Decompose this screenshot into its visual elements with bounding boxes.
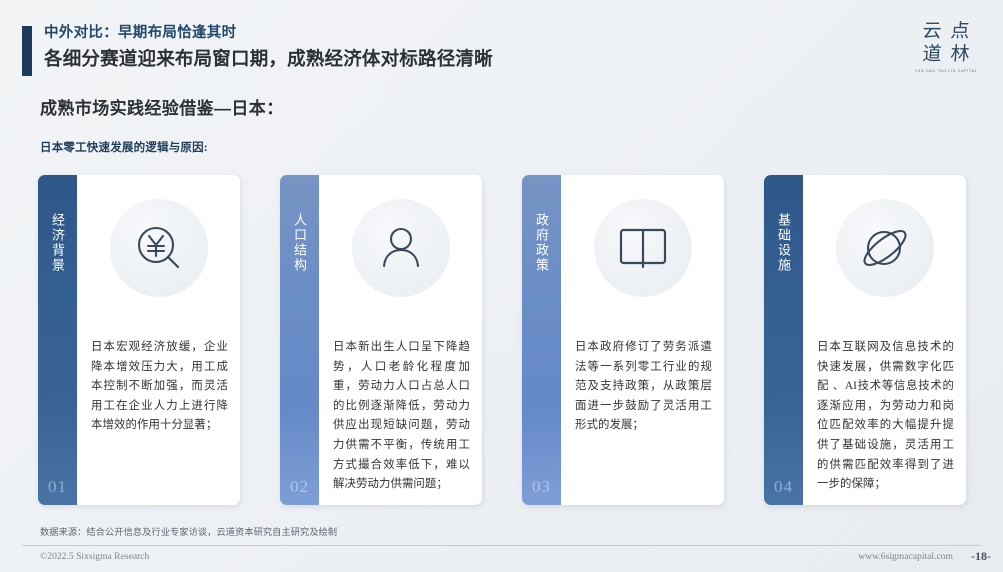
card-text: 日本新出生人口呈下降趋势，人口老龄化程度加重，劳动力人口占总人口的比例逐渐降低，… <box>333 338 470 495</box>
page-title: 各细分赛道迎来布局窗口期，成熟经济体对标路径清晰 <box>44 45 493 73</box>
card-tab: 经济背景 01 <box>38 175 77 505</box>
card-text: 日本互联网及信息技术的快速发展，供需数字化匹配 、AI技术等信息技术的逐渐应用，… <box>817 338 954 495</box>
card-body: 日本宏观经济放缓，企业降本增效压力大，用工成本控制不断加强，而灵活用工在企业人力… <box>77 175 240 505</box>
logo-line-2: 道林 <box>906 43 986 66</box>
logo-subtext: YUN DAO TAO LIN CAPITAL <box>907 69 985 73</box>
title-accent-bar <box>22 26 32 76</box>
data-source-note: 数据来源：结合公开信息及行业专家访谈，云道资本研究自主研究及绘制 <box>40 524 337 538</box>
header-eyebrow: 中外对比：早期布局恰逢其时 <box>44 23 493 43</box>
title-block: 中外对比：早期布局恰逢其时 各细分赛道迎来布局窗口期，成熟经济体对标路径清晰 <box>44 23 493 73</box>
slide-header: 中外对比：早期布局恰逢其时 各细分赛道迎来布局窗口期，成熟经济体对标路径清晰 云… <box>0 0 1003 86</box>
card-item[interactable]: 基础设施 04 日本互联网及信息技术的快速发展，供需数字化匹配 、AI技术等信息… <box>764 175 966 505</box>
card-body: 日本互联网及信息技术的快速发展，供需数字化匹配 、AI技术等信息技术的逐渐应用，… <box>803 175 966 505</box>
card-body: 日本政府修订了劳务派遣法等一系列零工行业的规范及支持政策，从政策层面进一步鼓励了… <box>561 175 724 505</box>
card-number: 02 <box>280 477 319 497</box>
person-icon <box>352 199 450 297</box>
card-item[interactable]: 政府政策 03 日本政府修订了劳务派遣法等一系列零工行业的规范及支持政策，从政策… <box>522 175 724 505</box>
slide-footer: ©2022.5 Sixsigma Research www.6sigmacapi… <box>0 546 1003 572</box>
yen-magnifier-icon <box>110 199 208 297</box>
open-book-icon <box>594 199 692 297</box>
card-item[interactable]: 人口结构 02 日本新出生人口呈下降趋势，人口老龄化程度加重，劳动力人口占总人口… <box>280 175 482 505</box>
card-tab: 人口结构 02 <box>280 175 319 505</box>
section-title: 成熟市场实践经验借鉴—日本： <box>40 94 284 119</box>
card-tab-label: 基础设施 <box>764 213 803 273</box>
card-tab: 政府政策 03 <box>522 175 561 505</box>
card-number: 04 <box>764 477 803 497</box>
card-tab-label: 人口结构 <box>280 213 319 273</box>
planet-icon <box>836 199 934 297</box>
company-logo: 云点 道林 YUN DAO TAO LIN CAPITAL <box>907 20 985 82</box>
section-subtitle: 日本零工快速发展的逻辑与原因: <box>40 139 208 155</box>
website-url[interactable]: www.6sigmacapital.com <box>858 551 953 562</box>
card-tab-label: 经济背景 <box>38 213 77 273</box>
card-number: 03 <box>522 477 561 497</box>
card-list: 经济背景 01 日本宏观经济放缓，企业降本增效压力大，用工成本控制不断加强，而灵… <box>38 175 968 505</box>
card-text: 日本宏观经济放缓，企业降本增效压力大，用工成本控制不断加强，而灵活用工在企业人力… <box>91 338 228 436</box>
card-tab: 基础设施 04 <box>764 175 803 505</box>
card-tab-label: 政府政策 <box>522 213 561 273</box>
copyright-text: ©2022.5 Sixsigma Research <box>40 551 149 562</box>
slide-root: 中外对比：早期布局恰逢其时 各细分赛道迎来布局窗口期，成熟经济体对标路径清晰 云… <box>0 0 1003 572</box>
logo-line-1: 云点 <box>906 20 986 43</box>
card-body: 日本新出生人口呈下降趋势，人口老龄化程度加重，劳动力人口占总人口的比例逐渐降低，… <box>319 175 482 505</box>
page-number: -18- <box>971 549 991 564</box>
card-item[interactable]: 经济背景 01 日本宏观经济放缓，企业降本增效压力大，用工成本控制不断加强，而灵… <box>38 175 240 505</box>
card-text: 日本政府修订了劳务派遣法等一系列零工行业的规范及支持政策，从政策层面进一步鼓励了… <box>575 338 712 436</box>
card-number: 01 <box>38 477 77 497</box>
